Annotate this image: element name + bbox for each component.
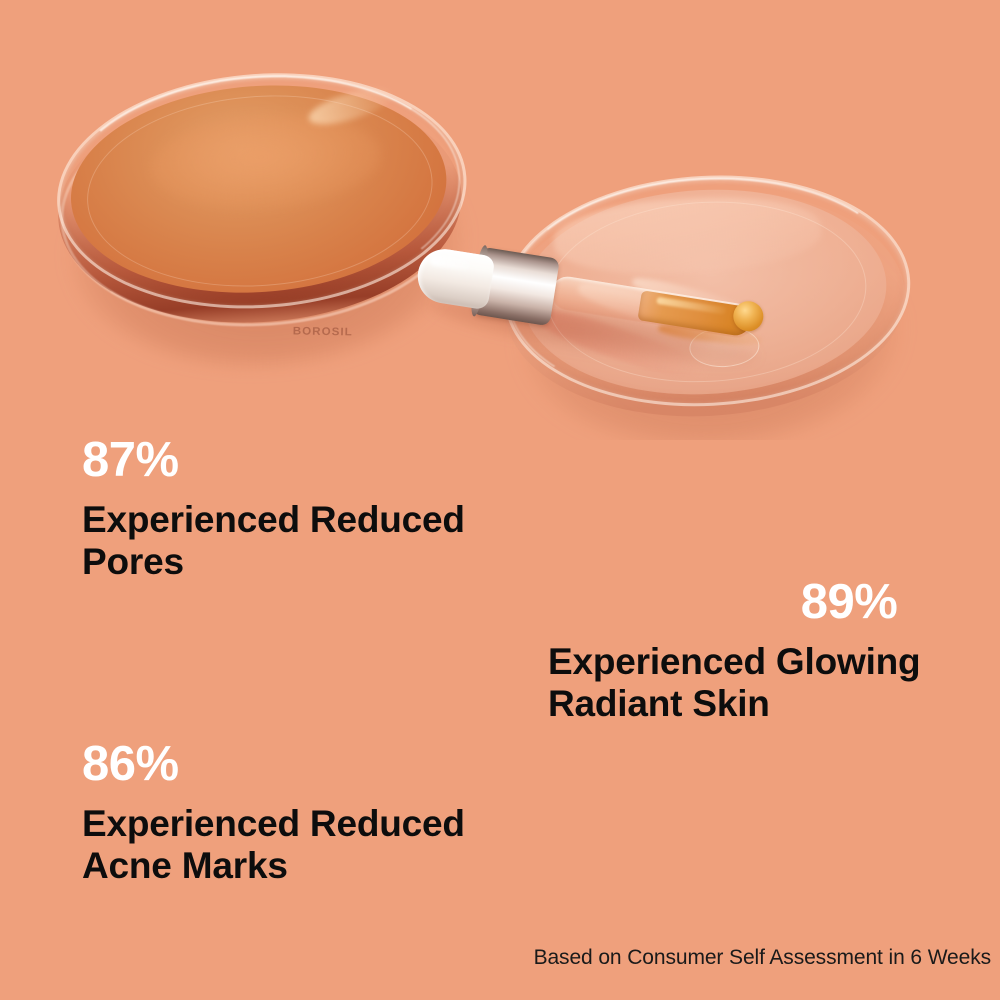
stat-percent-value: 87% <box>82 436 552 485</box>
stat-description: Experienced Glowing Radiant Skin <box>548 641 996 725</box>
stat-reduced-pores: 87% Experienced Reduced Pores <box>82 436 552 583</box>
stat-glowing-radiant-skin: 89% Experienced Glowing Radiant Skin <box>548 578 996 725</box>
stat-description: Experienced Reduced Acne Marks <box>82 803 552 887</box>
stat-description: Experienced Reduced Pores <box>82 499 552 583</box>
stat-reduced-acne-marks: 86% Experienced Reduced Acne Marks <box>82 740 552 887</box>
product-photo: BOROSIL <box>0 0 1000 440</box>
disclaimer-footnote: Based on Consumer Self Assessment in 6 W… <box>0 946 1000 970</box>
dish-brand-emboss: BOROSIL <box>260 325 386 339</box>
stat-percent-value: 89% <box>704 578 994 627</box>
dropper-rubber-bulb <box>414 245 496 310</box>
infographic-canvas: BOROSIL <box>0 0 1000 1000</box>
stat-percent-value: 86% <box>82 740 552 789</box>
